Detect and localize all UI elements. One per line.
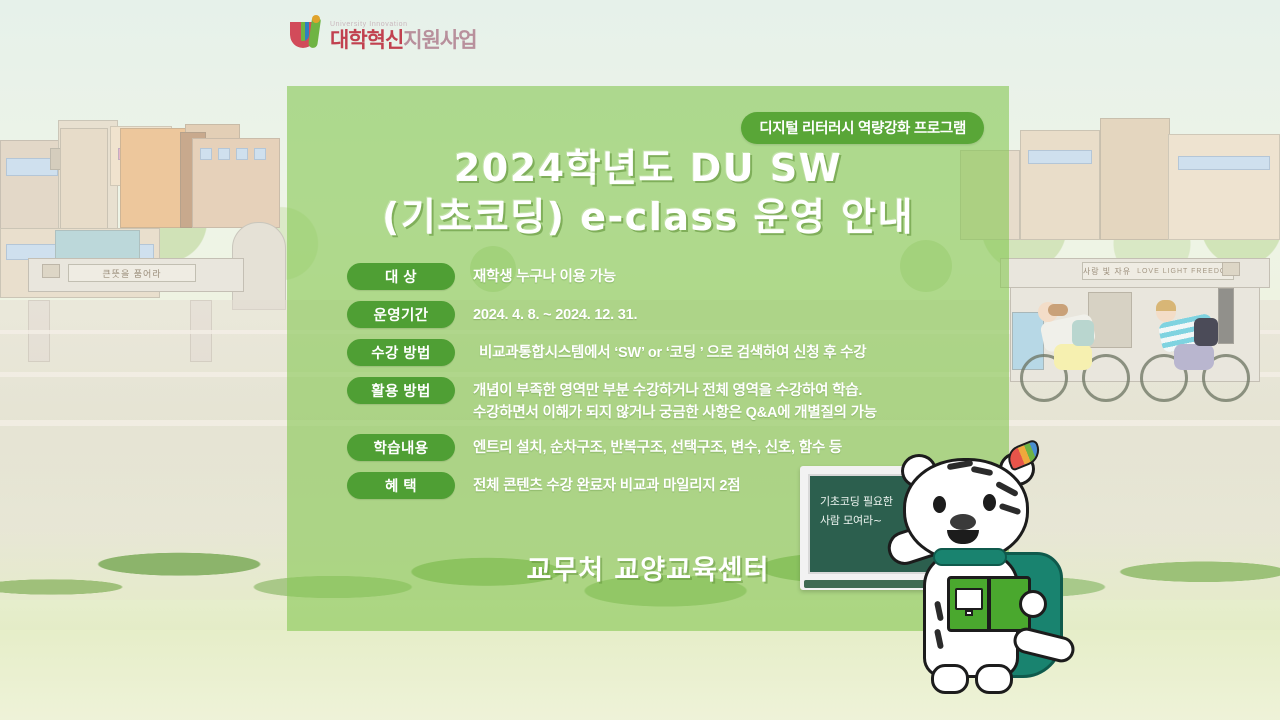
tiger-nose [950,514,976,530]
university-innovation-logo: University Innovation 대학혁신지원사업 [290,14,477,58]
tiger-paw-right [1019,590,1047,618]
poster-title: 2024학년도 DU SW (기초코딩) e-class 운영 안내 [287,144,1009,243]
program-badge: 디지털 리터러시 역량강화 프로그램 [741,112,984,144]
logo-korean-primary: 대학혁신 [330,29,403,52]
info-value-target: 재학생 누구나 이용 가능 [473,263,616,288]
cyclist-right-hair [1156,300,1176,311]
window-right-b [1178,156,1270,170]
left-gate-sign: 큰뜻을 품어라 [68,264,196,282]
info-row: 학습내용 엔트리 설치, 순차구조, 반복구조, 선택구조, 변수, 신호, 함… [347,434,987,461]
building-right-1 [1020,130,1100,240]
computer-icon-stand [965,610,973,616]
cyclist-right-backpack [1194,318,1218,346]
tiger-feather-icon [1004,438,1044,471]
left-gate-sign-text: 큰뜻을 품어라 [102,267,161,280]
info-row: 운영기간 2024. 4. 8. ~ 2024. 12. 31. [347,301,987,328]
right-gate-sign-kr: 사랑 빛 자유 [1083,266,1131,277]
tiger-leg-right [975,664,1013,694]
tiger-scarf [933,548,1007,566]
info-label-target: 대 상 [347,263,455,290]
info-value-enrollment-method: 비교과통합시스템에서 ‘SW’ or ‘코딩 ’ 으로 검색하여 신청 후 수강 [479,339,866,364]
tiger-eye-right [983,494,996,511]
tiger-eye-left [933,496,946,513]
logo-text-block: University Innovation 대학혁신지원사업 [330,21,477,51]
info-value-period: 2024. 4. 8. ~ 2024. 12. 31. [473,301,637,326]
cyclist-left-legs [1054,344,1092,370]
building-right-2 [1100,118,1170,240]
info-label-curriculum: 학습내용 [347,434,455,461]
info-row: 활용 방법 개념이 부족한 영역만 부분 수강하거나 전체 영역을 수강하여 학… [347,377,987,425]
building-teal-windows [55,230,140,260]
info-label-usage-method: 활용 방법 [347,377,455,404]
window-group-c [200,148,212,160]
info-label-period: 운영기간 [347,301,455,328]
right-gate-sign: 사랑 빛 자유 LOVE LIGHT FREEDOM [1082,262,1234,280]
window-group-e [236,148,248,160]
right-gate-sign-en: LOVE LIGHT FREEDOM [1137,268,1233,275]
tiger-mascot [895,440,1095,712]
info-label-enrollment-method: 수강 방법 [347,339,455,366]
left-gate-emblem [42,264,60,278]
info-row: 대 상 재학생 누구나 이용 가능 [347,263,987,290]
logo-mark-icon [290,18,324,54]
tiger-leg-left [931,664,969,694]
info-value-usage-method: 개념이 부족한 영역만 부분 수강하거나 전체 영역을 수강하여 학습. 수강하… [473,377,877,425]
logo-dot-icon [312,15,320,23]
computer-icon [955,588,983,610]
logo-korean-secondary: 지원사업 [403,29,476,52]
cyclist-right-legs [1174,344,1214,370]
logo-korean-text: 대학혁신지원사업 [330,30,477,51]
building-right-3 [1168,134,1280,240]
window-group-d [218,148,230,160]
window-right-a [1028,150,1092,164]
cyclist-left [1020,300,1140,410]
poster-canvas: 큰뜻을 품어라 사랑 빛 자유 LOVE LIGHT FREEDOM [0,0,1280,720]
info-value-curriculum: 엔트리 설치, 순차구조, 반복구조, 선택구조, 변수, 신호, 함수 등 [473,434,842,459]
info-value-benefit: 전체 콘텐츠 수강 완료자 비교과 마일리지 2점 [473,472,740,497]
info-row: 수강 방법 비교과통합시스템에서 ‘SW’ or ‘코딩 ’ 으로 검색하여 신… [347,339,987,366]
cyclist-left-hair [1048,304,1068,316]
poster-title-line-2: (기초코딩) e-class 운영 안내 [287,193,1009,242]
cyclist-right [1140,300,1260,410]
logo-english-text: University Innovation [330,21,477,28]
window-group-f [254,148,266,160]
info-label-benefit: 혜 택 [347,472,455,499]
cyclist-left-backpack [1072,320,1094,346]
right-gate-emblem [1222,262,1240,276]
poster-title-line-1: 2024학년도 DU SW [287,144,1009,193]
tiger-book-spine [987,576,991,632]
